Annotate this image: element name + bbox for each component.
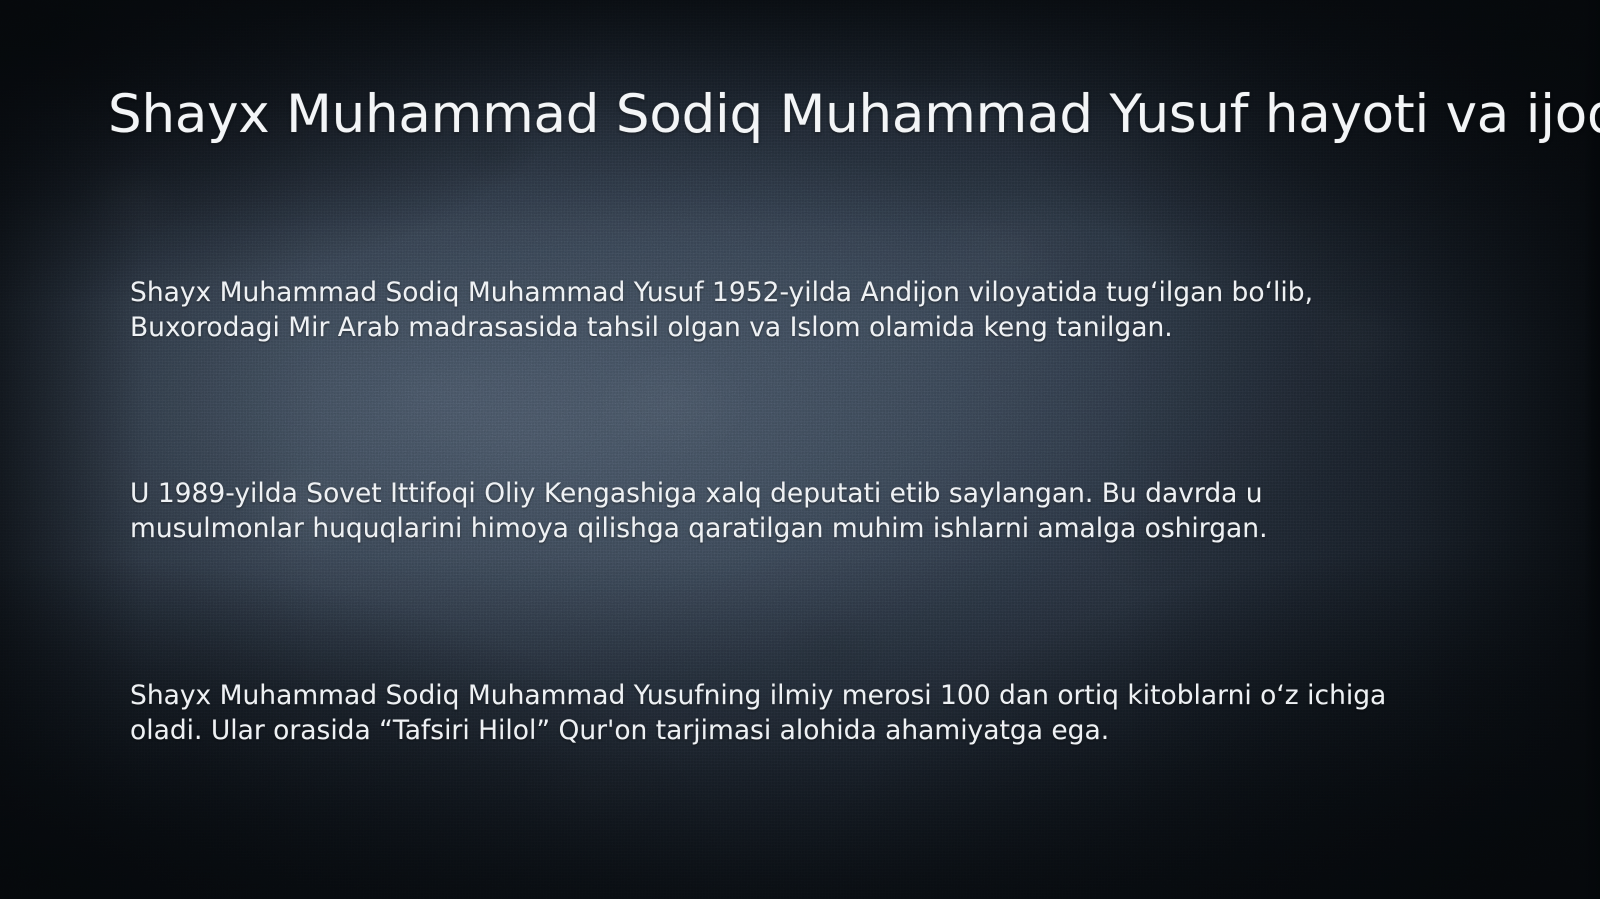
body-paragraph-2: U 1989-yilda Sovet Ittifoqi Oliy Kengash… [130, 476, 1345, 546]
presentation-slide: Shayx Muhammad Sodiq Muhammad Yusuf hayo… [0, 0, 1600, 899]
slide-content: Shayx Muhammad Sodiq Muhammad Yusuf hayo… [0, 0, 1600, 899]
body-paragraph-1: Shayx Muhammad Sodiq Muhammad Yusuf 1952… [130, 275, 1385, 345]
body-paragraph-3: Shayx Muhammad Sodiq Muhammad Yusufning … [130, 678, 1460, 748]
slide-title: Shayx Muhammad Sodiq Muhammad Yusuf hayo… [108, 84, 1548, 147]
